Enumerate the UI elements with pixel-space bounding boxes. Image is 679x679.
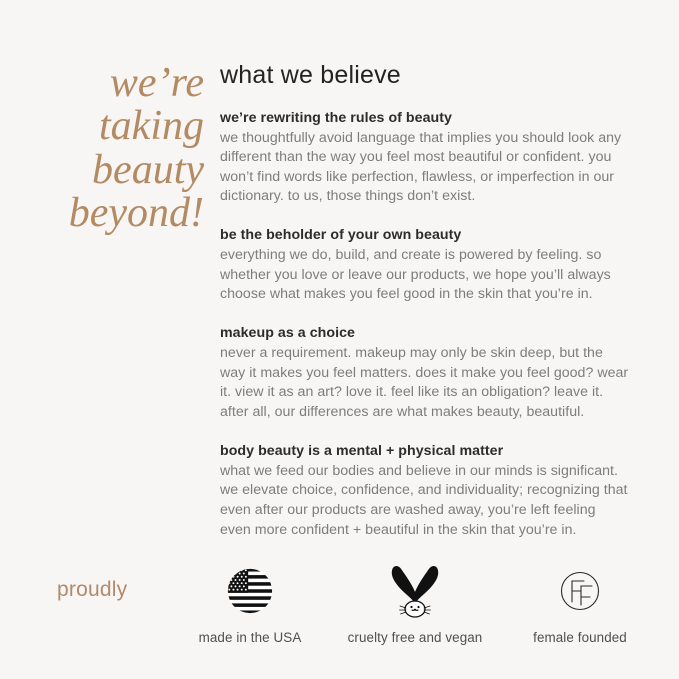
- belief-heading: makeup as a choice: [220, 324, 629, 343]
- badge-label: cruelty free and vegan: [348, 630, 483, 645]
- belief-section-2: be the beholder of your own beauty every…: [220, 226, 629, 305]
- page-root: we’re taking beauty beyond! what we beli…: [0, 0, 679, 679]
- footer-badges-area: proudly: [0, 562, 679, 672]
- badge-cruelty-free: cruelty free and vegan: [340, 562, 490, 645]
- beliefs-column: what we believe we’re rewriting the rule…: [210, 62, 679, 540]
- page-title: what we believe: [220, 62, 629, 90]
- badge-list: made in the USA: [175, 562, 655, 645]
- content-area: we’re taking beauty beyond! what we beli…: [0, 62, 679, 540]
- belief-body: what we feed our bodies and believe in o…: [220, 462, 629, 540]
- belief-section-3: makeup as a choice never a requirement. …: [220, 324, 629, 423]
- badge-female-founded: female founded: [505, 562, 655, 645]
- belief-section-1: we’re rewriting the rules of beauty we t…: [220, 109, 629, 208]
- belief-body: never a requirement. makeup may only be …: [220, 344, 629, 422]
- belief-heading: body beauty is a mental + physical matte…: [220, 442, 629, 461]
- brand-headline: we’re taking beauty beyond!: [0, 62, 210, 235]
- headline-line-3: beauty: [0, 149, 204, 192]
- belief-heading: be the beholder of your own beauty: [220, 226, 629, 245]
- cruelty-free-bunny-heart-icon: [390, 562, 440, 620]
- female-founder-collective-icon: [555, 562, 605, 620]
- headline-line-1: we’re: [0, 62, 204, 105]
- belief-heading: we’re rewriting the rules of beauty: [220, 109, 629, 128]
- belief-body: everything we do, build, and create is p…: [220, 246, 629, 305]
- badge-made-in-usa: made in the USA: [175, 562, 325, 645]
- belief-body: we thoughtfully avoid language that impl…: [220, 129, 629, 207]
- belief-section-4: body beauty is a mental + physical matte…: [220, 442, 629, 541]
- usa-flag-circle-icon: [227, 562, 273, 620]
- headline-line-2: taking: [0, 105, 204, 148]
- badge-label: female founded: [533, 630, 627, 645]
- badge-label: made in the USA: [199, 630, 302, 645]
- proudly-label: proudly: [57, 578, 127, 602]
- headline-line-4: beyond!: [0, 192, 204, 235]
